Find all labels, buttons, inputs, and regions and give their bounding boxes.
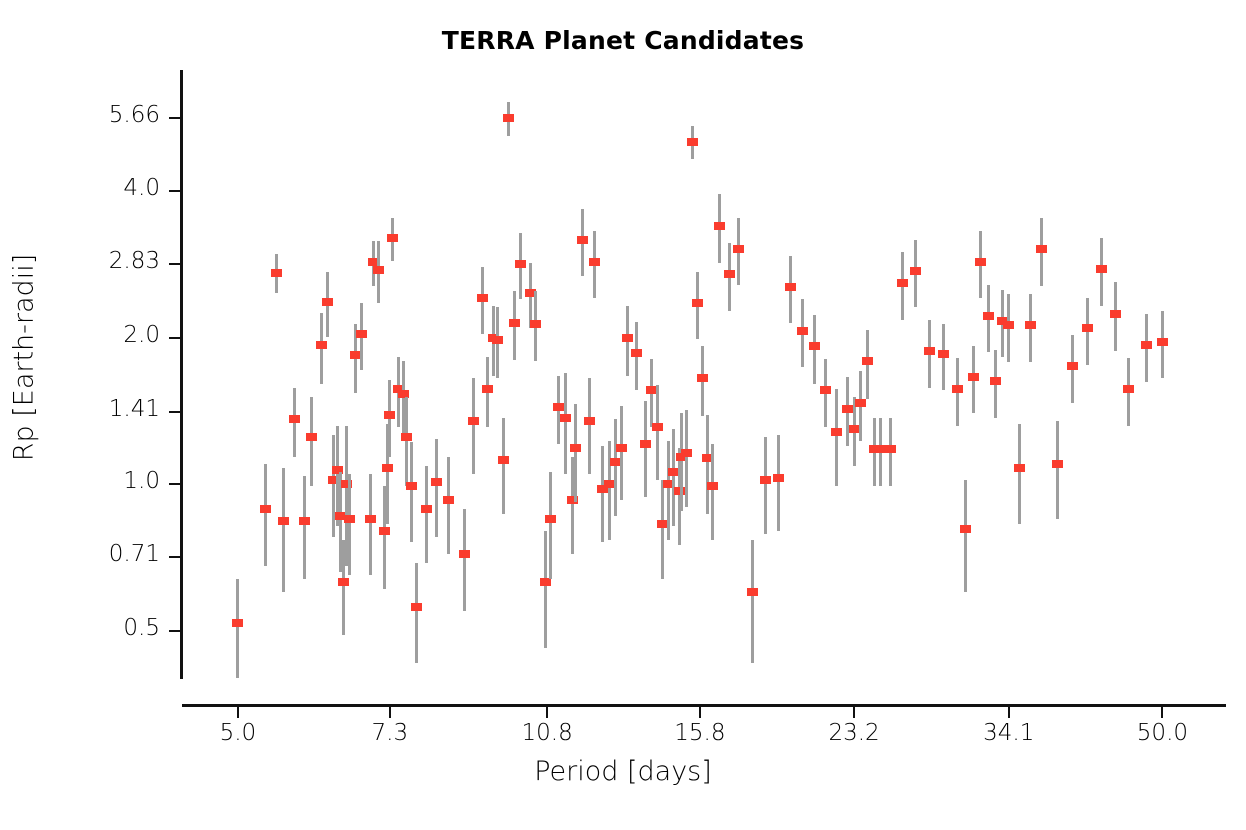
error-bar <box>564 373 567 474</box>
data-point-marker <box>1157 338 1168 346</box>
error-bar <box>656 385 659 480</box>
error-bar <box>661 480 664 579</box>
data-point-marker <box>338 578 349 586</box>
y-axis-tick <box>169 190 180 192</box>
data-point-marker <box>1082 324 1093 332</box>
data-point-marker <box>616 444 627 452</box>
y-axis-tick <box>169 263 180 265</box>
error-bar <box>764 437 767 534</box>
x-axis-tick-label: 34.1 <box>949 720 1069 746</box>
error-bar <box>425 466 428 563</box>
x-axis-tick-label: 10.8 <box>487 720 607 746</box>
chart-figure: TERRA Planet Candidates 0.50.711.01.412.… <box>0 0 1246 830</box>
error-bar <box>644 401 647 497</box>
error-bar <box>835 389 838 486</box>
error-bar <box>672 429 675 526</box>
y-axis-tick-label: 0.5 <box>40 615 160 641</box>
data-point-marker <box>1014 464 1025 472</box>
error-bar <box>415 563 418 663</box>
data-point-marker <box>482 385 493 393</box>
data-point-marker <box>387 234 398 242</box>
y-axis-tick <box>169 630 180 632</box>
x-axis-tick-label: 23.2 <box>794 720 914 746</box>
error-bar <box>614 419 617 516</box>
error-bar <box>588 378 591 474</box>
data-point-marker <box>492 336 503 344</box>
data-point-marker <box>406 482 417 490</box>
error-bar <box>685 410 688 506</box>
data-point-marker <box>697 374 708 382</box>
data-point-marker <box>855 399 866 407</box>
data-point-marker <box>1067 362 1078 370</box>
data-point-marker <box>952 385 963 393</box>
y-axis-tick <box>169 411 180 413</box>
y-axis-tick <box>169 337 180 339</box>
data-point-marker <box>1110 310 1121 318</box>
data-point-marker <box>1052 460 1063 468</box>
data-point-marker <box>431 478 442 486</box>
data-point-marker <box>401 433 412 441</box>
data-point-marker <box>842 405 853 413</box>
data-point-marker <box>382 464 393 472</box>
data-point-marker <box>897 279 908 287</box>
x-axis-title: Period [days] <box>0 756 1246 787</box>
data-point-marker <box>553 403 564 411</box>
error-bar <box>706 415 709 514</box>
error-bar <box>711 444 714 540</box>
data-point-marker <box>589 258 600 266</box>
data-point-marker <box>681 449 692 457</box>
data-point-marker <box>411 603 422 611</box>
data-point-marker <box>724 270 735 278</box>
y-axis-title: Rp [Earth-radii] <box>9 158 40 558</box>
error-bar <box>405 397 408 486</box>
data-point-marker <box>1036 245 1047 253</box>
x-axis-tick <box>699 707 701 718</box>
data-point-marker <box>316 341 327 349</box>
data-point-marker <box>797 327 808 335</box>
y-axis-tick <box>169 556 180 558</box>
data-point-marker <box>938 350 949 358</box>
error-bar <box>751 540 754 663</box>
x-axis-tick <box>389 707 391 718</box>
data-point-marker <box>960 525 971 533</box>
data-point-marker <box>990 377 1001 385</box>
data-point-marker <box>622 334 633 342</box>
data-point-marker <box>820 386 831 394</box>
y-axis-tick-label: 5.66 <box>40 102 160 128</box>
error-bar <box>680 413 683 511</box>
data-point-marker <box>278 517 289 525</box>
data-point-marker <box>747 588 758 596</box>
data-point-marker <box>1025 321 1036 329</box>
data-point-marker <box>831 428 842 436</box>
error-bar <box>777 435 780 531</box>
error-bar <box>303 476 306 579</box>
data-point-marker <box>459 550 470 558</box>
x-axis-tick-label: 7.3 <box>330 720 450 746</box>
data-point-marker <box>692 299 703 307</box>
data-point-marker <box>530 320 541 328</box>
error-bar <box>502 418 505 514</box>
error-bar <box>601 446 604 543</box>
error-bar <box>1018 424 1021 524</box>
error-bar <box>608 441 611 540</box>
data-point-marker <box>468 417 479 425</box>
error-bar <box>310 397 313 486</box>
data-point-marker <box>1096 265 1107 273</box>
data-point-marker <box>344 515 355 523</box>
error-bar <box>264 464 267 566</box>
data-point-marker <box>640 440 651 448</box>
error-bar <box>348 474 351 575</box>
y-axis-tick <box>169 483 180 485</box>
data-point-marker <box>968 373 979 381</box>
data-point-marker <box>560 414 571 422</box>
data-point-marker <box>289 415 300 423</box>
plot-area <box>182 70 1222 678</box>
data-point-marker <box>299 517 310 525</box>
error-bar <box>410 442 413 542</box>
y-axis-tick-label: 2.83 <box>40 248 160 274</box>
data-point-marker <box>232 619 243 627</box>
data-point-marker <box>477 294 488 302</box>
data-point-marker <box>577 236 588 244</box>
data-point-marker <box>443 496 454 504</box>
data-point-marker <box>733 245 744 253</box>
data-point-marker <box>885 445 896 453</box>
x-axis-tick-label: 15.8 <box>640 720 760 746</box>
data-point-marker <box>540 578 551 586</box>
error-bar <box>620 406 623 500</box>
x-axis-tick <box>1008 707 1010 718</box>
y-axis-tick-label: 1.41 <box>40 396 160 422</box>
data-point-marker <box>373 266 384 274</box>
data-point-marker <box>760 476 771 484</box>
error-bar <box>463 509 466 611</box>
error-bar <box>964 480 967 592</box>
y-axis-tick-label: 1.0 <box>40 468 160 494</box>
data-point-marker <box>1003 321 1014 329</box>
error-bar <box>544 531 547 648</box>
x-axis-tick <box>853 707 855 718</box>
data-point-marker <box>924 347 935 355</box>
x-axis-tick <box>1161 707 1163 718</box>
data-point-marker <box>384 411 395 419</box>
data-point-marker <box>1141 341 1152 349</box>
data-point-marker <box>785 283 796 291</box>
error-bar <box>472 378 475 474</box>
x-axis-tick-label: 50.0 <box>1102 720 1222 746</box>
error-bar <box>1056 421 1059 519</box>
data-point-marker <box>687 138 698 146</box>
data-point-marker <box>271 269 282 277</box>
data-point-marker <box>356 330 367 338</box>
data-point-marker <box>862 357 873 365</box>
x-axis-tick <box>237 707 239 718</box>
y-axis-tick <box>169 117 180 119</box>
data-point-marker <box>910 267 921 275</box>
error-bar <box>236 579 239 678</box>
data-point-marker <box>365 515 376 523</box>
y-axis-tick-label: 2.0 <box>40 322 160 348</box>
data-point-marker <box>773 474 784 482</box>
data-point-marker <box>584 417 595 425</box>
data-point-marker <box>515 260 526 268</box>
error-bar <box>574 404 577 502</box>
data-point-marker <box>322 298 333 306</box>
error-bar <box>369 474 372 575</box>
data-point-marker <box>503 114 514 122</box>
x-axis-tick-label: 5.0 <box>178 720 298 746</box>
data-point-marker <box>975 258 986 266</box>
data-point-marker <box>983 312 994 320</box>
data-point-marker <box>570 444 581 452</box>
data-point-marker <box>498 456 509 464</box>
error-bar <box>435 439 438 537</box>
data-point-marker <box>379 527 390 535</box>
data-point-marker <box>509 319 520 327</box>
error-bar <box>549 472 552 579</box>
y-axis-tick-label: 4.0 <box>40 175 160 201</box>
x-axis-tick <box>546 707 548 718</box>
data-point-marker <box>545 515 556 523</box>
data-point-marker <box>631 349 642 357</box>
data-point-marker <box>306 433 317 441</box>
data-point-marker <box>809 342 820 350</box>
data-point-marker <box>1123 385 1134 393</box>
error-bar <box>447 457 450 554</box>
data-point-marker <box>421 505 432 513</box>
data-point-marker <box>714 222 725 230</box>
y-axis-tick-label: 0.71 <box>40 541 160 567</box>
data-point-marker <box>260 505 271 513</box>
data-point-marker <box>707 482 718 490</box>
error-bar <box>282 468 285 592</box>
error-bar <box>667 441 670 540</box>
data-point-marker <box>652 423 663 431</box>
data-point-marker <box>849 425 860 433</box>
